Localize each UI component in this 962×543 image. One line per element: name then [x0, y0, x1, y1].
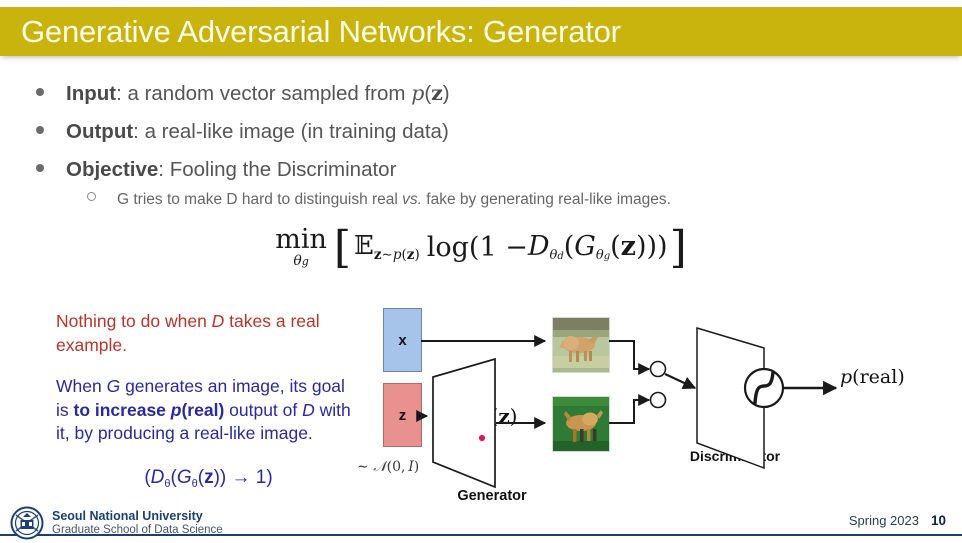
bullet-dot-icon [36, 88, 44, 96]
generator-dot-icon [479, 435, 485, 441]
selector-circle-upper-icon [651, 362, 666, 377]
sub-bullet-item: G tries to make D hard to distinguish re… [0, 191, 900, 209]
arrow-switch-to-discriminator [665, 374, 695, 388]
bullet-label: Input [66, 82, 116, 105]
bullet-text: Output: a real-like image (in training d… [66, 116, 449, 148]
sub-bullet-text: G tries to make D hard to distinguish re… [117, 191, 671, 209]
page-number: 10 [931, 513, 946, 528]
selector-circle-lower-icon [651, 393, 666, 408]
sub-bullet-italic: vs. [402, 191, 422, 208]
bracket-open: [ [334, 230, 351, 265]
term-label: Spring 2023 [849, 513, 919, 528]
note-blue: When G generates an image, its goal is t… [56, 375, 361, 446]
expectation-term: 𝔼z∼p(z) [354, 232, 420, 263]
bullet-label: Objective [66, 158, 158, 181]
sub-bullet-part2: fake by generating real-like images. [422, 191, 671, 208]
bullet-label: Output [66, 120, 133, 143]
note-blue-italic-g: G [107, 376, 121, 396]
gan-diagram: x z ∼ 𝒩(0, I) [355, 296, 955, 516]
min-subscript: θg [293, 254, 308, 268]
bullet-dot-icon [36, 164, 44, 172]
diagram-connectors [355, 296, 955, 516]
university-logo-block: Seoul National University Graduate Schoo… [10, 506, 223, 540]
school-name: Graduate School of Data Science [52, 524, 223, 537]
footer-meta: Spring 2023 10 [849, 513, 946, 528]
min-label: min [275, 226, 327, 253]
slide-title-bar: Generative Adversarial Networks: Generat… [0, 7, 962, 56]
note-red: Nothing to do when D takes a real exampl… [56, 310, 366, 357]
bullet-dot-icon [36, 126, 44, 134]
path-fake-to-switch [609, 400, 649, 423]
slide-canvas: Generative Adversarial Networks: Generat… [0, 0, 962, 543]
sub-bullet-part1: G tries to make D hard to distinguish re… [117, 191, 402, 208]
note-blue-start: When [56, 376, 107, 396]
bullet-item-objective: Objective: Fooling the Discriminator [0, 154, 900, 186]
min-operator: min θg [275, 226, 327, 268]
university-name: Seoul National University [52, 509, 223, 523]
path-real-to-switch [609, 341, 649, 369]
log-term: log(1 − [427, 234, 528, 261]
sigmoid-circle-icon [745, 369, 783, 407]
page-title: Generative Adversarial Networks: Generat… [21, 14, 621, 50]
bullet-text: Objective: Fooling the Discriminator [66, 154, 396, 186]
bracket-close: ] [670, 230, 687, 265]
objective-equation: min θg [ 𝔼z∼p(z) log(1 − Dθd(Gθg(z))) ] [0, 226, 962, 268]
bullet-rest: : a real-like image (in training data) [133, 120, 449, 143]
generator-shape [433, 359, 495, 487]
bullet-text: Input: a random vector sampled from p(z) [66, 78, 450, 110]
bullet-item-output: Output: a real-like image (in training d… [0, 116, 900, 148]
bullet-rest: : a random vector sampled from [116, 82, 411, 105]
bullet-list: Input: a random vector sampled from p(z)… [0, 78, 900, 209]
note-blue-bold: to increase p(real) [74, 400, 225, 420]
bullet-rest: : Fooling the Discriminator [158, 158, 396, 181]
discriminator-term: Dθd(Gθg(z))) [528, 233, 668, 262]
note-blue-formula: (Dθ(Gθ(z)) → 1) [56, 467, 361, 490]
sub-bullet-circle-icon [87, 192, 96, 201]
bullet-item-input: Input: a random vector sampled from p(z) [0, 78, 900, 110]
snu-crest-icon [10, 506, 44, 540]
